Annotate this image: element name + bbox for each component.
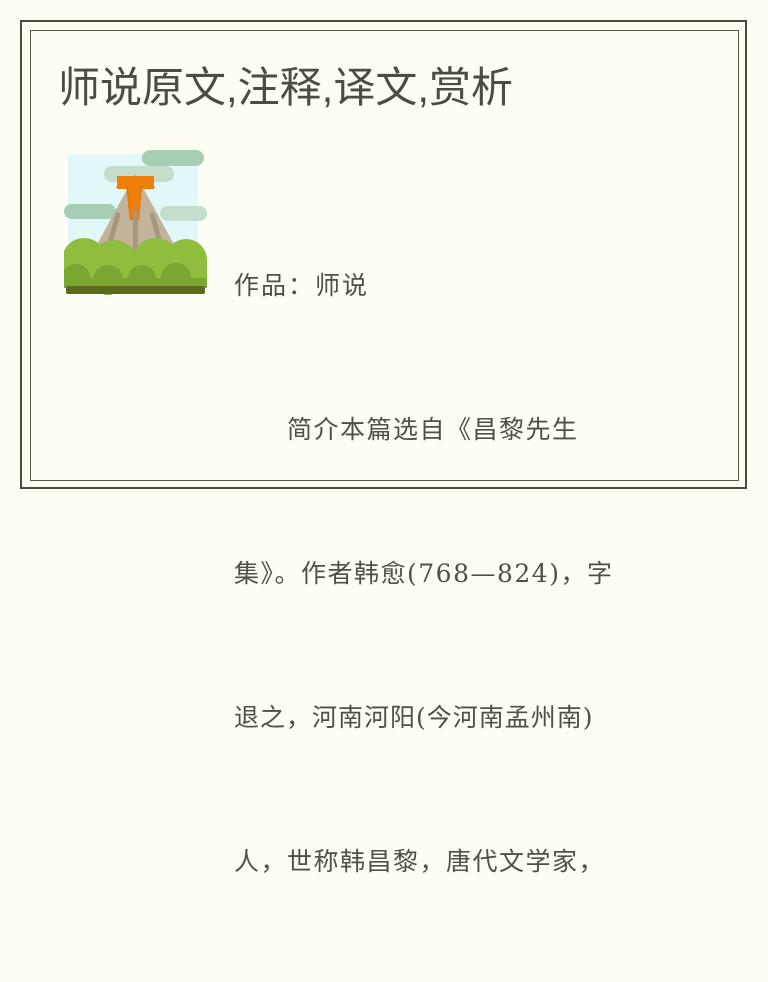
article-line: 集》。作者韩愈(768—824)，字 — [234, 550, 654, 598]
article-line: 作品：师说 — [234, 262, 654, 310]
article-line: 简介本篇选自《昌黎先生 — [234, 406, 654, 454]
page-root: 师说原文,注释,译文,赏析 — [0, 0, 768, 510]
volcano-icon — [64, 148, 207, 296]
page-title: 师说原文,注释,译文,赏析 — [58, 62, 718, 114]
article-body: 作品：师说 简介本篇选自《昌黎先生 集》。作者韩愈(768—824)，字 退之，… — [234, 166, 654, 982]
article-line: 人，世称韩昌黎，唐代文学家， — [234, 838, 654, 886]
article-line: 退之，河南河阳(今河南孟州南) — [234, 694, 654, 742]
